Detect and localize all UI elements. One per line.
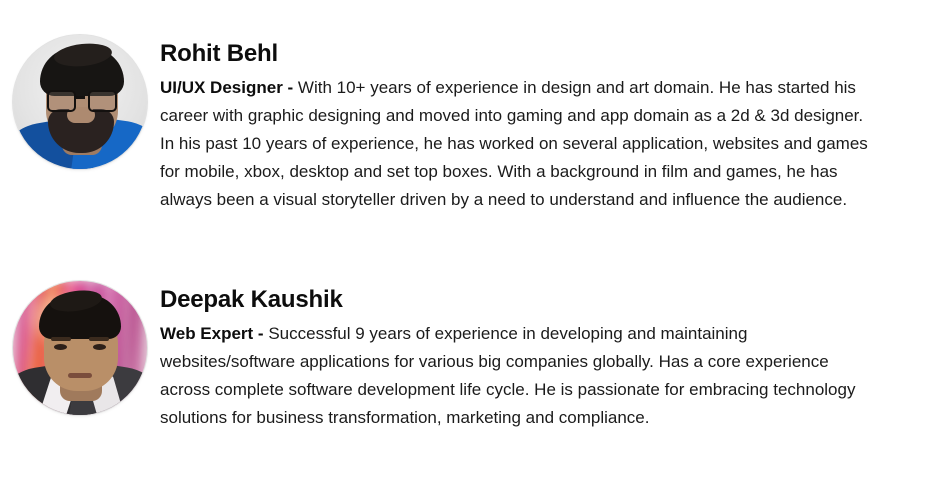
profile-text-column: Rohit Behl UI/UX Designer - With 10+ yea… (160, 35, 890, 214)
avatar-wrapper (0, 281, 160, 415)
profile-name: Deepak Kaushik (160, 287, 890, 314)
profile-text-column: Deepak Kaushik Web Expert - Successful 9… (160, 281, 890, 432)
profile-card-deepak-kaushik: Deepak Kaushik Web Expert - Successful 9… (0, 281, 890, 432)
avatar-eye-right (93, 344, 106, 350)
profile-bio-text: Successful 9 years of experience in deve… (160, 324, 855, 427)
profile-bio-text: With 10+ years of experience in design a… (160, 78, 868, 209)
profile-bio: UI/UX Designer - With 10+ years of exper… (160, 74, 882, 214)
team-profiles-page: Rohit Behl UI/UX Designer - With 10+ yea… (0, 0, 944, 484)
profile-card-rohit-behl: Rohit Behl UI/UX Designer - With 10+ yea… (0, 35, 890, 214)
profile-bio: Web Expert - Successful 9 years of exper… (160, 320, 882, 432)
glasses-bridge (75, 96, 85, 99)
avatar-eyebrow-left (51, 337, 71, 341)
avatar-rohit-behl (13, 35, 147, 169)
profile-role: UI/UX Designer - (160, 78, 293, 97)
avatar-eye-left (54, 344, 67, 350)
profile-role: Web Expert - (160, 324, 264, 343)
avatar-eyebrow-right (89, 337, 109, 341)
avatar-wrapper (0, 35, 160, 169)
profile-name: Rohit Behl (160, 41, 890, 68)
glasses-lens-right (88, 90, 117, 112)
avatar-mouth (68, 373, 92, 378)
avatar-deepak-kaushik (13, 281, 147, 415)
glasses-lens-left (47, 90, 76, 112)
